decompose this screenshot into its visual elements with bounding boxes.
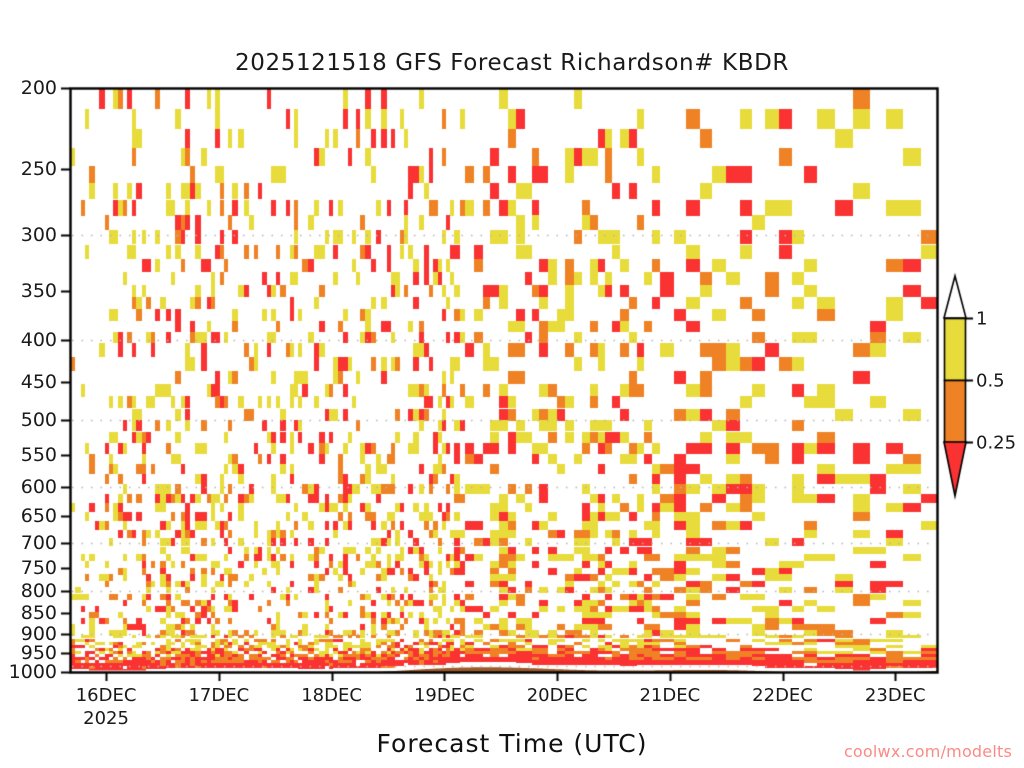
colorbar-tick-0.25: 0.25: [976, 432, 1016, 453]
y-axis-tick-350: 350: [0, 280, 57, 302]
y-axis-tick-850: 850: [0, 602, 57, 624]
y-axis-tick-450: 450: [0, 371, 57, 393]
x-axis-tick-23DEC: 23DEC: [865, 685, 926, 706]
source-watermark: coolwx.com/modelts: [0, 742, 1012, 761]
y-axis-tick-200: 200: [0, 77, 57, 99]
y-axis-tick-500: 500: [0, 409, 57, 431]
x-axis-tick-16DEC: 16DEC: [76, 685, 137, 706]
y-axis-tick-550: 550: [0, 444, 57, 466]
y-axis-tick-700: 700: [0, 532, 57, 554]
colorbar-tick-0.5: 0.5: [976, 370, 1005, 391]
y-axis-tick-600: 600: [0, 476, 57, 498]
x-axis-tick-17DEC: 17DEC: [188, 685, 249, 706]
x-axis-tick-20DEC: 20DEC: [527, 685, 588, 706]
y-axis-tick-800: 800: [0, 580, 57, 602]
x-axis-tick-18DEC: 18DEC: [301, 685, 362, 706]
x-axis-year-label: 2025: [83, 708, 129, 729]
chart-page: 2025121518 GFS Forecast Richardson# KBDR…: [0, 0, 1024, 768]
richardson-number-heatmap: [0, 0, 1024, 768]
y-axis-tick-400: 400: [0, 329, 57, 351]
page-title: 2025121518 GFS Forecast Richardson# KBDR: [0, 50, 1024, 76]
y-axis-tick-250: 250: [0, 158, 57, 180]
y-axis-tick-1000: 1000: [0, 661, 57, 683]
x-axis-tick-19DEC: 19DEC: [414, 685, 475, 706]
x-axis-tick-22DEC: 22DEC: [752, 685, 813, 706]
y-axis-tick-650: 650: [0, 505, 57, 527]
x-axis-tick-21DEC: 21DEC: [639, 685, 700, 706]
y-axis-tick-300: 300: [0, 224, 57, 246]
y-axis-tick-750: 750: [0, 557, 57, 579]
colorbar-tick-1: 1: [976, 308, 987, 329]
